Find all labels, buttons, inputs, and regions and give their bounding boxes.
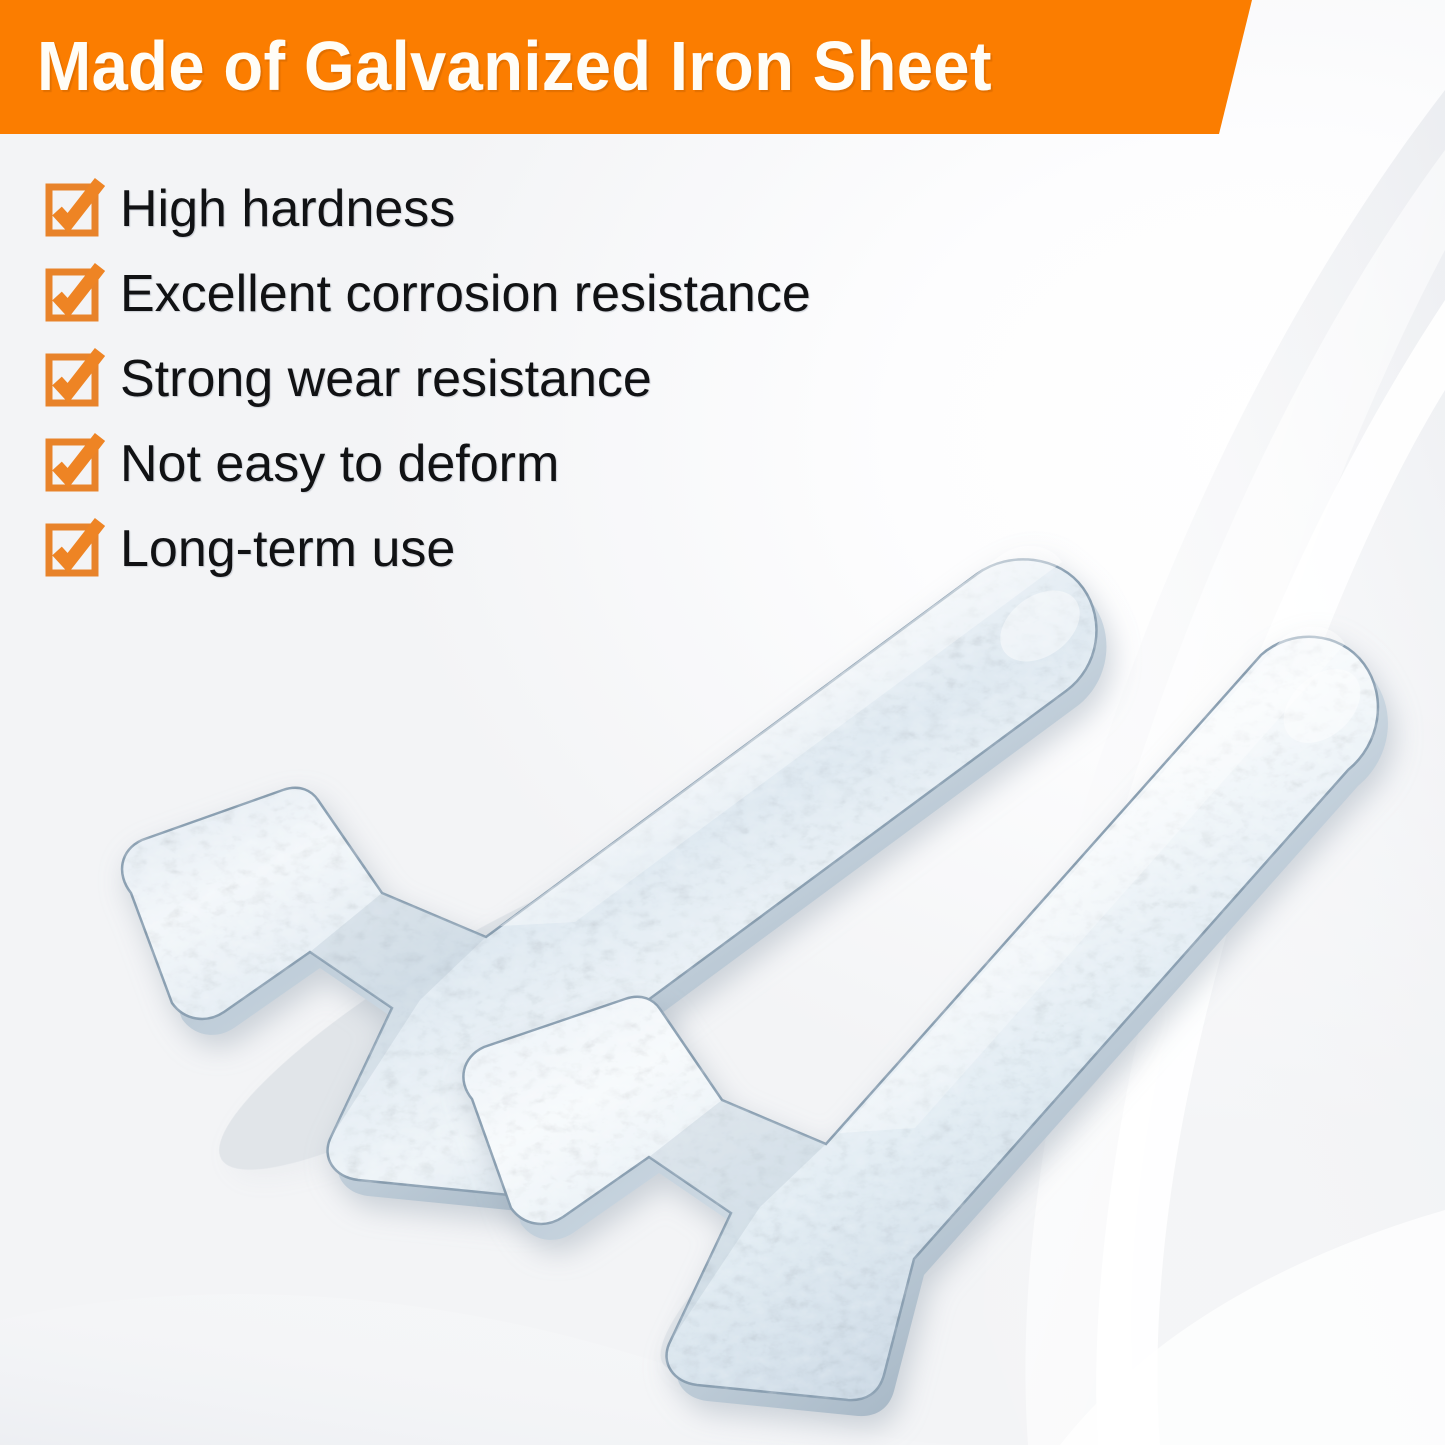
feature-label: Not easy to deform (120, 436, 559, 492)
checkbox-checked-icon (46, 269, 96, 319)
checkbox-checked-icon (46, 354, 96, 404)
checkbox-checked-icon (46, 184, 96, 234)
wrench-upper (122, 546, 1106, 1211)
wrench-lower (463, 627, 1388, 1416)
feature-label: High hardness (120, 181, 455, 237)
feature-list: High hardness Excellent corrosion resist… (46, 166, 1046, 591)
feature-item: High hardness (46, 166, 1046, 251)
feature-label: Excellent corrosion resistance (120, 266, 811, 322)
feature-item: Excellent corrosion resistance (46, 251, 1046, 336)
feature-item: Not easy to deform (46, 421, 1046, 506)
feature-item: Strong wear resistance (46, 336, 1046, 421)
product-feature-card: Made of Galvanized Iron Sheet High hardn… (0, 0, 1445, 1445)
header-banner: Made of Galvanized Iron Sheet (0, 0, 1258, 134)
feature-item: Long-term use (46, 506, 1046, 591)
feature-label: Long-term use (120, 521, 455, 577)
banner-title: Made of Galvanized Iron Sheet (37, 24, 992, 108)
checkbox-checked-icon (46, 524, 96, 574)
wrench-shadows (187, 804, 1174, 1413)
checkbox-checked-icon (46, 439, 96, 489)
feature-label: Strong wear resistance (120, 351, 652, 407)
